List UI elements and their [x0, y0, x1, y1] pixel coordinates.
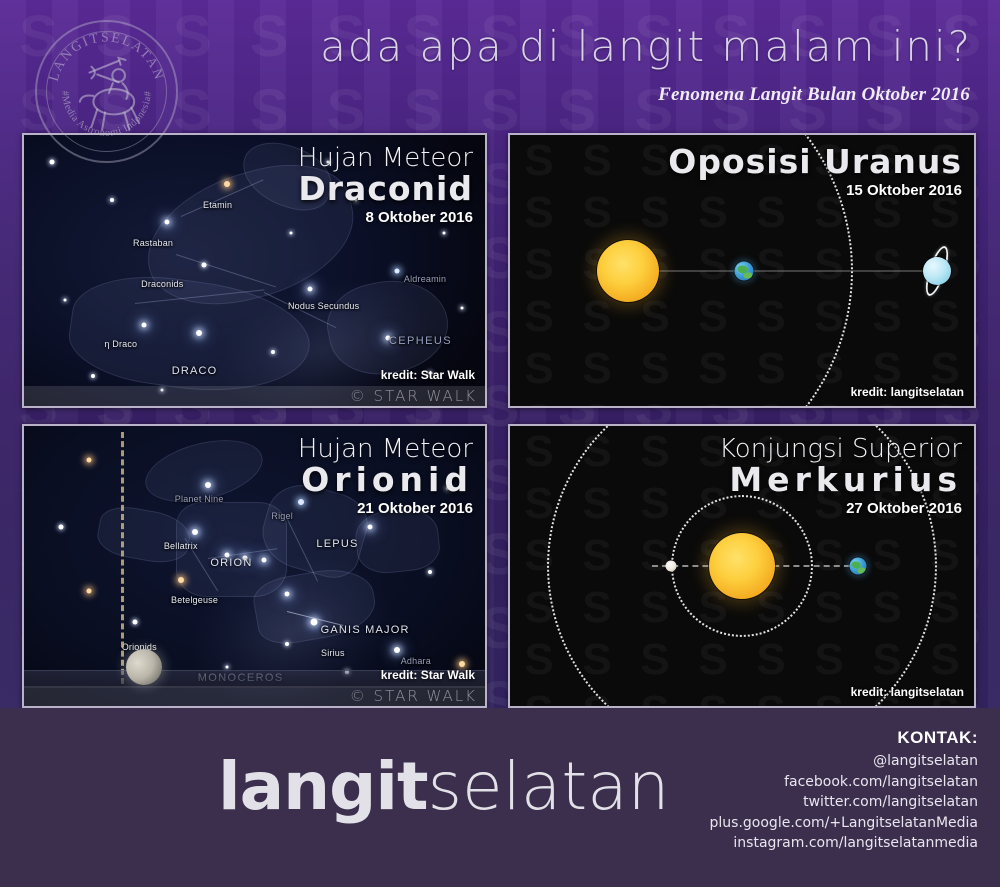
star-field-c: [64, 299, 67, 302]
ecliptic-line: [121, 432, 124, 684]
headline-date: 27 Oktober 2016: [719, 500, 962, 517]
star-field-h: [460, 307, 463, 310]
star-belt-3: [261, 558, 266, 563]
headline-big: Oposisi Uranus: [668, 145, 962, 180]
earth: [850, 558, 867, 575]
star-label: Bellatrix: [164, 541, 198, 551]
star-field-d: [91, 374, 95, 378]
star-etamin: [224, 181, 230, 187]
star-label: η Draco: [104, 339, 137, 349]
poster-root: SSSSSSSSSSSSSSSSSSSSSSSSSSSSSSSSSSSSSSSS…: [0, 0, 1000, 887]
star-label: Etamin: [203, 200, 232, 210]
starwalk-watermark-text: © STAR WALK: [350, 687, 477, 705]
panel-headline-orionid: Hujan Meteor Orionid 21 Oktober 2016: [298, 436, 473, 517]
star-label: ORION: [210, 557, 252, 569]
star-label: Adhara: [401, 656, 431, 666]
star-lepus-a: [367, 524, 372, 529]
star-field-warm-a: [86, 457, 91, 462]
contact-line[interactable]: plus.google.com/+LangitselatanMedia: [710, 813, 978, 834]
contact-line[interactable]: instagram.com/langitselatanmedia: [710, 833, 978, 854]
header: ada apa di langit malam ini? Fenomena La…: [0, 0, 1000, 120]
star-planet-nine: [205, 482, 211, 488]
panel-credit: kredit: langitselatan: [851, 685, 964, 699]
star-field-r: [225, 665, 228, 668]
starwalk-watermark-bar: © STAR WALK: [24, 686, 485, 706]
star-unnamed-a: [196, 330, 202, 336]
star-draconids-radiant: [201, 263, 206, 268]
star-field-e: [271, 350, 275, 354]
star-field-n: [132, 620, 137, 625]
sun: [597, 240, 659, 302]
star-label: Betelgeuse: [171, 595, 218, 605]
star-field-l: [290, 231, 293, 234]
opposition-alignment-line: [626, 270, 951, 271]
contact-line[interactable]: @langitselatan: [710, 751, 978, 772]
star-saiph: [284, 592, 289, 597]
uranus-body: [923, 257, 951, 285]
star-label: Rastaban: [133, 238, 173, 248]
starwalk-watermark-bar: © STAR WALK: [24, 386, 485, 406]
star-adhara: [394, 647, 400, 653]
uranus: [909, 251, 965, 291]
langitselatan-wordmark: langitselatan: [218, 753, 670, 820]
sun: [709, 533, 775, 599]
moon: [126, 649, 162, 685]
page-subtitle: Fenomena Langit Bulan Oktober 2016: [658, 84, 970, 106]
star-label: Planet Nine: [175, 494, 224, 504]
star-alderamin: [395, 268, 400, 273]
headline-date: 15 Oktober 2016: [668, 182, 962, 199]
star-field-warm-b: [86, 589, 91, 594]
headline-date: 21 Oktober 2016: [298, 500, 473, 517]
star-field-m: [58, 524, 63, 529]
panel-credit: kredit: Star Walk: [381, 668, 475, 682]
panel-draconid[interactable]: EtaminRastabanDraconidsNodus Secundusη D…: [22, 133, 487, 408]
panel-orionid[interactable]: Planet NineBellatrixRigelORIONLEPUSBetel…: [22, 424, 487, 708]
wordmark-bold: langit: [218, 748, 428, 825]
star-label: Nodus Secundus: [288, 301, 359, 311]
star-bellatrix: [192, 529, 198, 535]
star-label: Draconids: [141, 279, 183, 289]
contact-line[interactable]: facebook.com/langitselatan: [710, 772, 978, 793]
contact-title: KONTAK:: [710, 728, 978, 748]
panel-headline-uranus: Oposisi Uranus 15 Oktober 2016: [668, 145, 962, 199]
panel-headline-merkurius: Konjungsi Superior Merkurius 27 Oktober …: [719, 436, 962, 517]
star-field-warm-c: [459, 661, 465, 667]
star-field-b: [110, 198, 114, 202]
wordmark-light: selatan: [428, 748, 670, 825]
headline-big: Merkurius: [719, 463, 962, 498]
contact-line[interactable]: twitter.com/langitselatan: [710, 792, 978, 813]
star-label: Sirius: [321, 648, 345, 658]
panel-credit: kredit: langitselatan: [851, 385, 964, 399]
star-label: Aldreamin: [404, 274, 446, 284]
headline-big: Orionid: [298, 463, 473, 498]
starwalk-watermark-text: © STAR WALK: [350, 387, 477, 405]
star-betelgeuse: [178, 577, 184, 583]
star-label: DRACO: [172, 365, 218, 377]
page-title: ada apa di langit malam ini?: [320, 22, 972, 71]
star-field-p: [428, 570, 432, 574]
star-label: LEPUS: [316, 538, 358, 550]
contact-lines: @langitselatanfacebook.com/langitselatan…: [710, 751, 978, 854]
headline-big: Draconid: [298, 172, 473, 207]
star-label: GANIS MAJOR: [321, 624, 410, 636]
panel-uranus[interactable]: SSSSSSSSSSSSSSSSSSSSSSSSSSSSSSSSSSSSSSSS…: [508, 133, 976, 408]
star-eta-draco: [141, 322, 146, 327]
headline-date: 8 Oktober 2016: [298, 209, 473, 226]
mercury: [666, 561, 677, 572]
star-label: CEPHEUS: [389, 335, 452, 347]
panel-headline-draconid: Hujan Meteor Draconid 8 Oktober 2016: [298, 145, 473, 226]
star-sirius: [311, 619, 318, 626]
star-nodus-secundus: [307, 287, 312, 292]
panel-merkurius[interactable]: SSSSSSSSSSSSSSSSSSSSSSSSSSSSSSSSSSSSSSSS…: [508, 424, 976, 708]
star-rastaban: [164, 219, 169, 224]
star-label: Rigel: [271, 511, 293, 521]
contact-block: KONTAK: @langitselatanfacebook.com/langi…: [710, 728, 978, 854]
earth: [735, 261, 754, 280]
star-field-g: [442, 231, 445, 234]
star-field-o: [285, 642, 289, 646]
panel-credit: kredit: Star Walk: [381, 368, 475, 382]
